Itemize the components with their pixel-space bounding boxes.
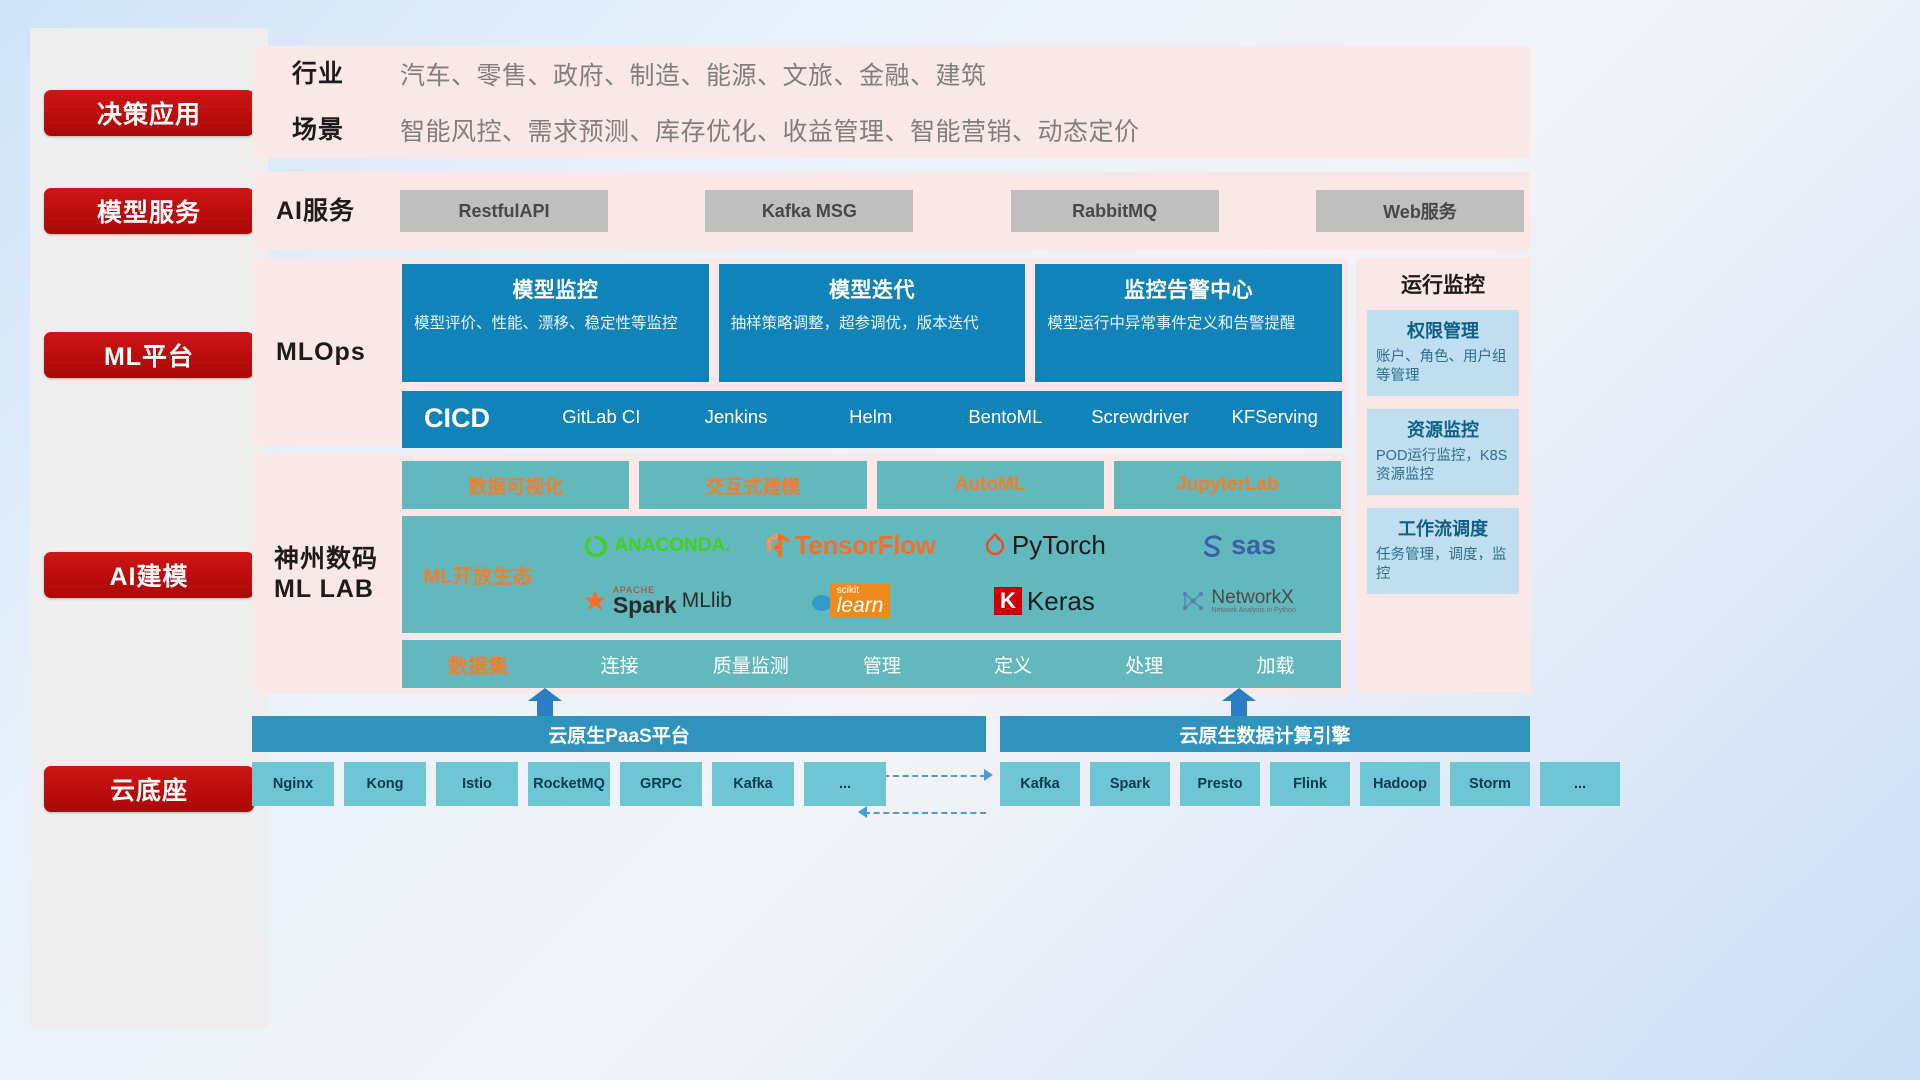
- spark-star-icon: [582, 588, 608, 614]
- pytorch-label: PyTorch: [1012, 530, 1106, 561]
- dataset-item-connect[interactable]: 连接: [554, 651, 685, 678]
- engine-chip-more[interactable]: ...: [1540, 762, 1620, 806]
- ecosystem-logo-grid: ANACONDA. TensorFlow: [554, 516, 1341, 633]
- ai-service-label: Kafka MSG: [762, 201, 857, 222]
- ml-open-ecosystem-title: ML开放生态: [402, 516, 554, 633]
- monitor-box-title: 权限管理: [1376, 317, 1510, 343]
- pytorch-icon: [983, 533, 1007, 559]
- cicd-item-list: GitLab CI Jenkins Helm BentoML Screwdriv…: [534, 391, 1342, 428]
- stage-badge-label: ML平台: [104, 337, 194, 373]
- stage-badge-label: 决策应用: [97, 95, 201, 131]
- networkx-tagline: Network Analysis in Python: [1211, 607, 1295, 614]
- anaconda-label: ANACONDA.: [614, 535, 730, 557]
- mlops-card-model-monitoring[interactable]: 模型监控 模型评价、性能、漂移、稳定性等监控: [402, 264, 709, 382]
- ai-service-restfulapi[interactable]: RestfulAPI: [400, 190, 608, 232]
- anaconda-logo[interactable]: ANACONDA.: [583, 533, 730, 559]
- ml-lab-tool-data-visualization[interactable]: 数据可视化: [402, 461, 629, 509]
- ml-lab-tool-automl[interactable]: AutoML: [877, 461, 1104, 509]
- ml-lab-band: 神州数码 ML LAB 数据可视化 交互式建模 AutoML JupyterLa…: [252, 454, 1348, 694]
- scenario-row-value: 智能风控、需求预测、库存优化、收益管理、智能营销、动态定价: [400, 112, 1530, 148]
- dashed-arrowhead-right: [984, 769, 993, 781]
- scikit-learn-badge: scikit learn: [830, 584, 891, 618]
- paas-chip-nginx[interactable]: Nginx: [252, 762, 334, 806]
- industry-row-label: 行业: [252, 59, 400, 90]
- up-arrow-engine-to-lab: [1222, 688, 1256, 718]
- dataset-item-load[interactable]: 加载: [1210, 651, 1341, 678]
- ai-service-web[interactable]: Web服务: [1316, 190, 1524, 232]
- learn-label: learn: [837, 596, 884, 616]
- dataset-item-quality-monitor[interactable]: 质量监测: [685, 651, 816, 678]
- anaconda-icon: [583, 533, 609, 559]
- dataset-row: 数据集 连接 质量监测 管理 定义 处理 加载: [402, 640, 1341, 688]
- stage-badge-cloud-base[interactable]: 云底座: [44, 766, 254, 812]
- dataset-title: 数据集: [402, 650, 554, 679]
- dashed-arrowhead-left: [858, 806, 867, 818]
- ai-service-label: RabbitMQ: [1072, 201, 1157, 222]
- paas-chip-istio[interactable]: Istio: [436, 762, 518, 806]
- spark-mllib-logo[interactable]: APACHE Spark MLlib: [582, 586, 732, 616]
- sas-swirl-icon: [1200, 533, 1226, 559]
- keras-label: Keras: [1027, 586, 1095, 617]
- spark-label: Spark: [613, 595, 677, 617]
- mlops-card-desc: 模型运行中异常事件定义和告警提醒: [1047, 313, 1330, 334]
- ai-service-label: RestfulAPI: [458, 201, 549, 222]
- mlops-card-title: 模型迭代: [731, 274, 1014, 304]
- mllib-label: MLlib: [682, 589, 732, 613]
- mlops-label: MLOps: [276, 337, 366, 368]
- dashed-link-backward: [864, 812, 986, 814]
- tensorflow-logo[interactable]: TensorFlow: [766, 530, 936, 561]
- decision-apps-band: 行业 汽车、零售、政府、制造、能源、文旅、金融、建筑 场景 智能风控、需求预测、…: [252, 46, 1530, 158]
- pytorch-logo[interactable]: PyTorch: [983, 530, 1106, 561]
- monitor-box-desc: 账户、角色、用户组等管理: [1376, 348, 1510, 387]
- stage-badge-label: 云底座: [110, 771, 188, 807]
- cicd-bar: CICD GitLab CI Jenkins Helm BentoML Scre…: [402, 391, 1342, 448]
- tensorflow-icon: [766, 532, 790, 560]
- spark-wordmark: APACHE Spark: [613, 586, 677, 616]
- networkx-graph-icon: [1180, 588, 1206, 614]
- monitor-box-workflow-scheduling[interactable]: 工作流调度 任务管理，调度，监控: [1367, 508, 1519, 594]
- mlops-card-title: 模型监控: [414, 274, 697, 304]
- ai-service-label: Web服务: [1383, 198, 1457, 224]
- stage-badge-ai-modeling[interactable]: AI建模: [44, 552, 254, 598]
- cicd-item-kfserving[interactable]: KFServing: [1207, 405, 1342, 428]
- stage-badge-ml-platform[interactable]: ML平台: [44, 332, 254, 378]
- cicd-item-screwdriver[interactable]: Screwdriver: [1073, 405, 1208, 428]
- keras-icon: K: [994, 587, 1022, 615]
- networkx-logo[interactable]: NetworkX Network Analysis in Python: [1180, 588, 1295, 614]
- engine-chip-flink[interactable]: Flink: [1270, 762, 1350, 806]
- monitor-box-desc: 任务管理，调度，监控: [1376, 546, 1510, 585]
- networkx-wordmark: NetworkX Network Analysis in Python: [1211, 588, 1295, 614]
- mlops-card-alert-center[interactable]: 监控告警中心 模型运行中异常事件定义和告警提醒: [1035, 264, 1342, 382]
- paas-chip-grpc[interactable]: GRPC: [620, 762, 702, 806]
- ai-service-kafka-msg[interactable]: Kafka MSG: [705, 190, 913, 232]
- engine-chip-spark[interactable]: Spark: [1090, 762, 1170, 806]
- cicd-item-gitlab-ci[interactable]: GitLab CI: [534, 405, 669, 428]
- networkx-label: NetworkX: [1211, 588, 1295, 607]
- monitor-box-desc: POD运行监控，K8S资源监控: [1376, 447, 1510, 486]
- paas-chip-more[interactable]: ...: [804, 762, 886, 806]
- ai-services-band: AI服务 RestfulAPI Kafka MSG RabbitMQ Web服务: [252, 172, 1530, 250]
- ml-lab-tool-interactive-modeling[interactable]: 交互式建模: [639, 461, 866, 509]
- stage-rail: 决策应用 模型服务 ML平台 AI建模 云底座: [30, 28, 268, 1028]
- engine-chip-presto[interactable]: Presto: [1180, 762, 1260, 806]
- dataset-item-list: 连接 质量监测 管理 定义 处理 加载: [554, 651, 1341, 678]
- mlops-card-desc: 抽样策略调整，超参调优，版本迭代: [731, 313, 1014, 334]
- paas-component-chips: Nginx Kong Istio RocketMQ GRPC Kafka ...: [252, 762, 886, 806]
- stage-badge-decision-apps[interactable]: 决策应用: [44, 90, 254, 136]
- dataset-item-process[interactable]: 处理: [1079, 651, 1210, 678]
- ml-open-ecosystem: ML开放生态 ANACONDA.: [402, 516, 1341, 633]
- mlops-card-title: 监控告警中心: [1047, 274, 1330, 304]
- keras-logo[interactable]: K Keras: [994, 586, 1095, 617]
- sas-label: sas: [1231, 530, 1276, 561]
- stage-badge-label: AI建模: [109, 557, 188, 593]
- scenario-row-label: 场景: [252, 115, 400, 146]
- paas-chip-kafka[interactable]: Kafka: [712, 762, 794, 806]
- mlops-card-list: 模型监控 模型评价、性能、漂移、稳定性等监控 模型迭代 抽样策略调整，超参调优，…: [402, 264, 1342, 382]
- ai-services-list: RestfulAPI Kafka MSG RabbitMQ Web服务: [400, 190, 1530, 232]
- mlops-card-desc: 模型评价、性能、漂移、稳定性等监控: [414, 313, 697, 334]
- diagram-canvas: 决策应用 模型服务 ML平台 AI建模 云底座 行业 汽车、零售、政府、制造、能…: [0, 0, 1920, 1080]
- monitor-box-title: 资源监控: [1376, 416, 1510, 442]
- tensorflow-label: TensorFlow: [795, 530, 936, 561]
- cloud-native-paas-bar[interactable]: 云原生PaaS平台: [252, 716, 986, 752]
- dataset-item-define[interactable]: 定义: [948, 651, 1079, 678]
- cicd-item-jenkins[interactable]: Jenkins: [669, 405, 804, 428]
- sas-logo[interactable]: sas: [1200, 530, 1276, 561]
- up-arrow-paas-to-lab: [528, 688, 562, 718]
- engine-chip-storm[interactable]: Storm: [1450, 762, 1530, 806]
- mlops-band: MLOps 模型监控 模型评价、性能、漂移、稳定性等监控 模型迭代 抽样策略调整…: [252, 258, 1348, 446]
- engine-chip-hadoop[interactable]: Hadoop: [1360, 762, 1440, 806]
- cicd-item-bentoml[interactable]: BentoML: [938, 405, 1073, 428]
- cicd-title: CICD: [402, 391, 534, 434]
- cicd-item-helm[interactable]: Helm: [803, 405, 938, 428]
- monitor-box-title: 工作流调度: [1376, 515, 1510, 541]
- paas-chip-kong[interactable]: Kong: [344, 762, 426, 806]
- ml-lab-tool-jupyterlab[interactable]: JupyterLab: [1114, 461, 1341, 509]
- cloud-native-paas-label: 云原生PaaS平台: [548, 721, 689, 748]
- monitor-box-permissions[interactable]: 权限管理 账户、角色、用户组等管理: [1367, 310, 1519, 396]
- ml-lab-label: 神州数码 ML LAB: [274, 544, 378, 605]
- runtime-monitoring-band: 运行监控 权限管理 账户、角色、用户组等管理 资源监控 POD运行监控，K8S资…: [1356, 258, 1530, 694]
- data-engine-component-chips: Kafka Spark Presto Flink Hadoop Storm ..…: [1000, 762, 1620, 806]
- industry-row-value: 汽车、零售、政府、制造、能源、文旅、金融、建筑: [400, 56, 1530, 92]
- paas-chip-rocketmq[interactable]: RocketMQ: [528, 762, 610, 806]
- cloud-native-data-engine-label: 云原生数据计算引擎: [1179, 721, 1350, 748]
- stage-badge-model-service[interactable]: 模型服务: [44, 188, 254, 234]
- ai-services-label: AI服务: [252, 196, 400, 227]
- cloud-native-data-engine-bar[interactable]: 云原生数据计算引擎: [1000, 716, 1530, 752]
- ai-service-rabbitmq[interactable]: RabbitMQ: [1011, 190, 1219, 232]
- ml-lab-tool-list: 数据可视化 交互式建模 AutoML JupyterLab: [402, 461, 1341, 509]
- mlops-card-model-iteration[interactable]: 模型迭代 抽样策略调整，超参调优，版本迭代: [719, 264, 1026, 382]
- scikit-learn-logo[interactable]: scikit learn: [811, 584, 891, 618]
- runtime-monitoring-title: 运行监控: [1356, 258, 1530, 310]
- engine-chip-kafka[interactable]: Kafka: [1000, 762, 1080, 806]
- dataset-item-manage[interactable]: 管理: [816, 651, 947, 678]
- monitor-box-resources[interactable]: 资源监控 POD运行监控，K8S资源监控: [1367, 409, 1519, 495]
- stage-badge-label: 模型服务: [97, 193, 201, 229]
